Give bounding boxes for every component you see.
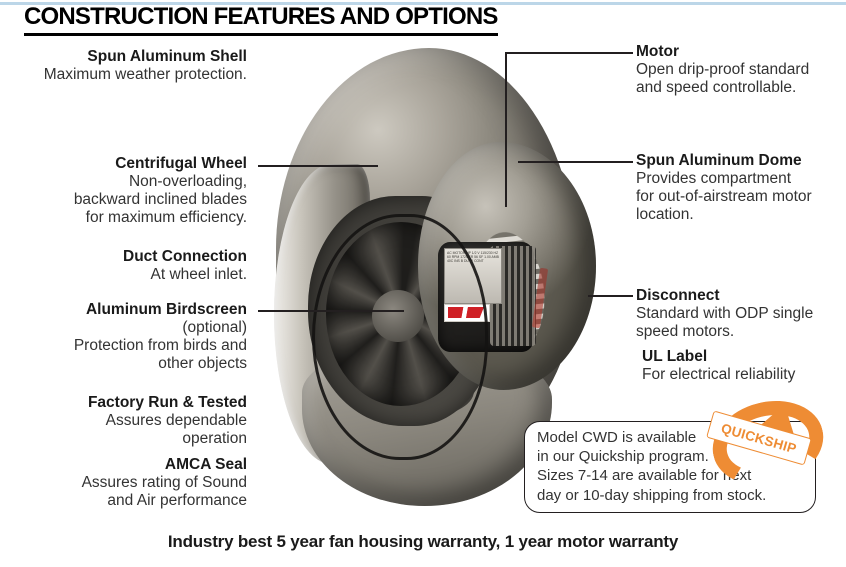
callout-line: Non-overloading, [0,173,247,191]
callout-line: For electrical reliability [642,366,846,384]
leader-line-aluminum-birdscreen [258,310,404,312]
callout-heading: Aluminum Birdscreen [0,301,247,319]
callout-heading: Spun Aluminum Shell [0,48,247,66]
callout-line: backward inclined blades [0,191,247,209]
callout-line: and Air performance [0,492,247,510]
callout-line: At wheel inlet. [0,266,247,284]
callout-line: Assures rating of Sound [0,474,247,492]
callout-line: Assures dependable [0,412,247,430]
callout-heading: Duct Connection [0,248,247,266]
callout-line: for out-of-airstream motor [636,188,844,206]
leader-line-motor-horizontal [505,52,633,54]
warranty-footer: Industry best 5 year fan housing warrant… [0,532,846,552]
callout-disconnect: Disconnect Standard with ODP single spee… [636,287,844,341]
callout-line: Protection from birds and [0,337,247,355]
leader-line-disconnect [588,295,633,297]
callout-motor: Motor Open drip-proof standard and speed… [636,43,844,97]
callout-line: for maximum efficiency. [0,209,247,227]
callout-line: Provides compartment [636,170,844,188]
callout-line: other objects [0,355,247,373]
callout-factory-run-and-tested: Factory Run & Tested Assures dependable … [0,394,247,448]
callout-spun-aluminum-shell: Spun Aluminum Shell Maximum weather prot… [0,48,247,84]
callout-heading: AMCA Seal [0,456,247,474]
callout-line: (optional) [0,319,247,337]
callout-line: Maximum weather protection. [0,66,247,84]
product-photo: AC MOTOR HP 1/2 V 115/230 HZ 60 RPM 1725… [268,46,598,476]
callout-heading: Factory Run & Tested [0,394,247,412]
callout-line: and speed controllable. [636,79,844,97]
callout-centrifugal-wheel: Centrifugal Wheel Non-overloading, backw… [0,155,247,228]
diagram-canvas: CONSTRUCTION FEATURES AND OPTIONS AC MOT… [0,0,846,567]
leader-line-spun-aluminum-dome [518,161,633,163]
callout-amca-seal: AMCA Seal Assures rating of Sound and Ai… [0,456,247,510]
callout-heading: UL Label [642,348,846,366]
callout-ul-label: UL Label For electrical reliability [642,348,846,384]
quickship-badge: QUICKSHIP [706,398,810,462]
callout-duct-connection: Duct Connection At wheel inlet. [0,248,247,284]
page-title: CONSTRUCTION FEATURES AND OPTIONS [24,3,498,36]
aluminum-birdscreen-graphic [312,214,488,460]
quickship-line: day or 10-day shipping from stock. [537,486,805,505]
callout-heading: Spun Aluminum Dome [636,152,844,170]
callout-line: operation [0,430,247,448]
leader-line-motor-vertical [505,52,507,207]
callout-line: Open drip-proof standard [636,61,844,79]
callout-heading: Disconnect [636,287,844,305]
leader-line-centrifugal-wheel [258,165,378,167]
callout-line: Standard with ODP single [636,305,844,323]
callout-heading: Motor [636,43,844,61]
callout-line: location. [636,206,844,224]
callout-aluminum-birdscreen: Aluminum Birdscreen (optional) Protectio… [0,301,247,374]
callout-heading: Centrifugal Wheel [0,155,247,173]
callout-spun-aluminum-dome: Spun Aluminum Dome Provides compartment … [636,152,844,225]
callout-line: speed motors. [636,323,844,341]
